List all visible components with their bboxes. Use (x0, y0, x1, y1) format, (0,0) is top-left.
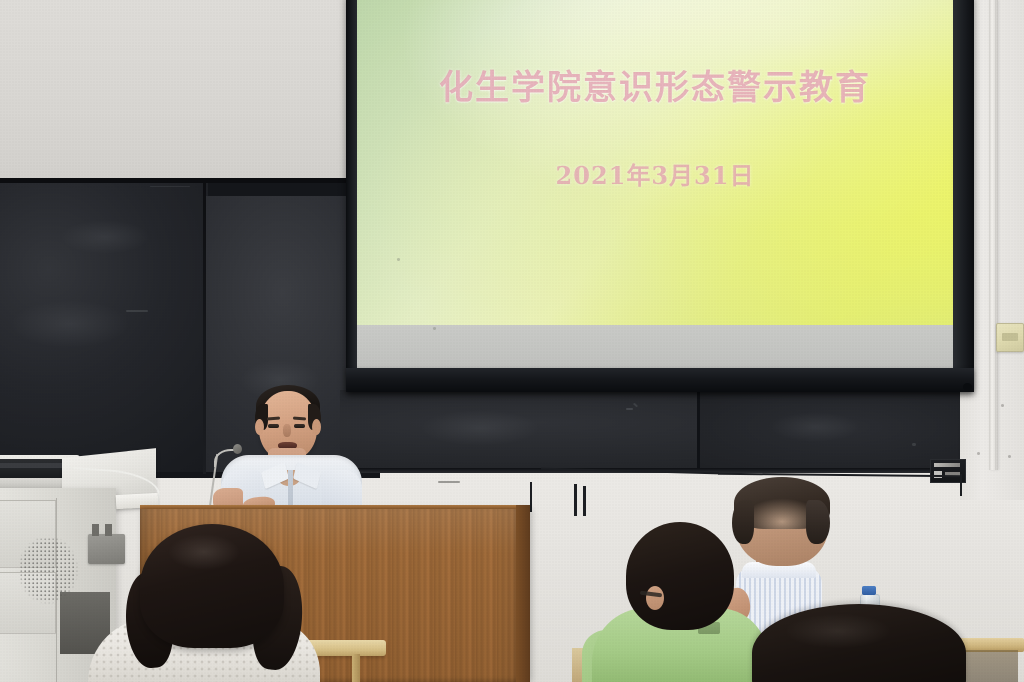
projection-screen-surface: 化生学院意识形态警示教育 2021年3月31日 (357, 0, 953, 370)
speaker-ear-left (255, 419, 264, 435)
water-bottle-cap[interactable] (862, 586, 876, 595)
screen-dust-speck (433, 327, 436, 330)
blackboard-lower-seam (697, 392, 700, 470)
speaker-nose (283, 424, 291, 437)
classroom-photo-scene: 化生学院意识形态警示教育 2021年3月31日 (0, 0, 1024, 682)
speaker-eye-left (268, 424, 279, 428)
cable-drop (960, 474, 962, 496)
chalk-smudge (420, 410, 540, 446)
microphone-head-icon (233, 444, 242, 454)
chalk-smudge (770, 412, 860, 442)
wall-mark (1001, 404, 1004, 407)
hanging-cable (530, 482, 532, 512)
wall-mark (1008, 455, 1011, 458)
screen-bottom-bar[interactable] (346, 368, 974, 392)
chalk-mark (150, 186, 190, 187)
chalk-mark (912, 443, 916, 446)
speaker-ear-right (312, 419, 321, 435)
av-cabinet-opening-inner (0, 463, 62, 468)
audience-green-head (626, 522, 734, 630)
blackboard-top-edge (0, 178, 380, 183)
screen-blank-band (357, 325, 953, 370)
wall-conduit (989, 0, 998, 470)
av-cabinet-opening[interactable] (0, 459, 70, 478)
screen-pull-knob[interactable] (963, 383, 972, 391)
speaker-eye-right (294, 424, 305, 428)
wall-conduit-seam (995, 0, 996, 470)
audience-balding-hair-right (806, 500, 830, 544)
chalk-mark (626, 408, 633, 410)
chalk-smudge (10, 300, 130, 348)
av-cabinet-connector-box[interactable] (88, 534, 125, 564)
screen-dust-speck (397, 258, 400, 261)
podium-right-edge (516, 505, 530, 682)
wall-mark (977, 452, 980, 455)
hair-highlight (786, 614, 890, 648)
slide-title: 化生学院意识形态警示教育 (357, 60, 953, 109)
audience-balding-hair-left (732, 500, 754, 544)
slide-date: 2021年3月31日 (357, 156, 953, 191)
electrical-outlet (996, 323, 1024, 352)
chalk-smudge (60, 220, 150, 254)
audience-green-ear (646, 586, 664, 610)
screen-right-edge (953, 0, 974, 386)
student-desk-leg (352, 654, 360, 682)
chalk-mark (126, 310, 148, 312)
blackboard-seam (203, 182, 206, 474)
screen-left-edge (346, 0, 357, 386)
hanging-cable (583, 486, 586, 516)
hanging-cable (574, 484, 577, 516)
cable-clip (438, 481, 460, 483)
hair-highlight (168, 534, 240, 570)
